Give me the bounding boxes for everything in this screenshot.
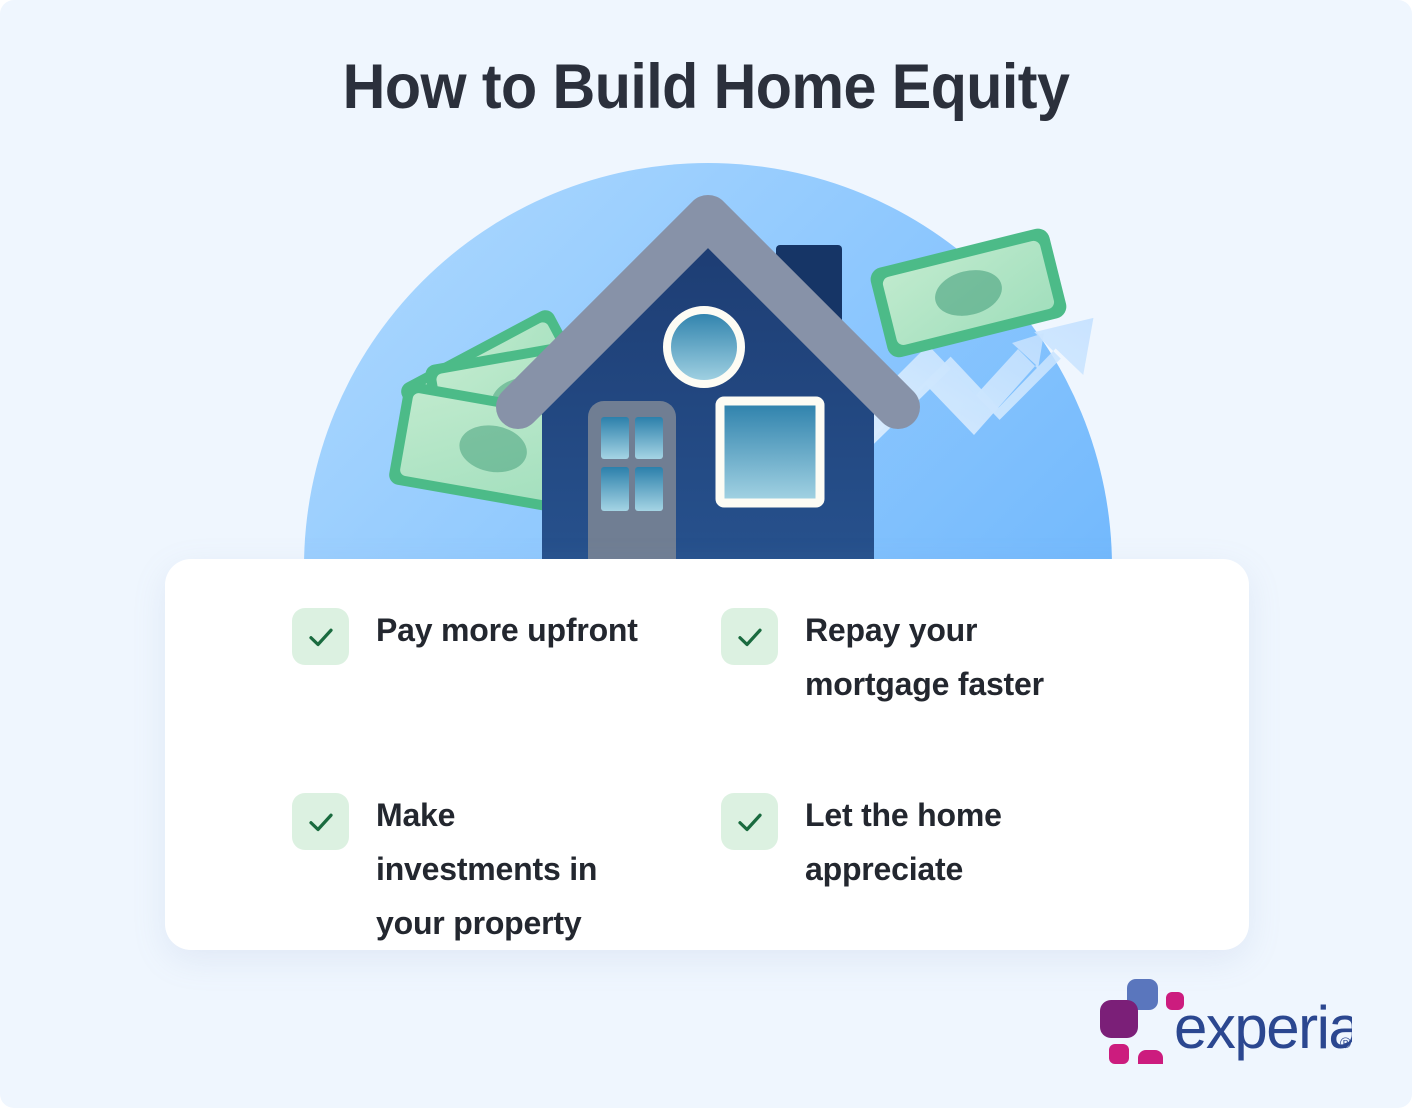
experian-logo: experian ® [1100,976,1352,1064]
check-icon-glyph [306,807,336,837]
hero-illustration [296,155,1120,575]
square-window [720,401,820,503]
check-icon [721,793,778,850]
checklist-item-repay-mortgage-faster[interactable]: Repay your mortgage faster [643,603,1249,767]
check-icon [292,793,349,850]
house-illustration-svg [296,155,1120,575]
checklist-item-label: Pay more upfront [376,603,638,657]
check-icon-glyph [735,622,765,652]
checklist-card: Pay more upfront Repay your mortgage fas… [165,559,1249,950]
checklist-item-let-home-appreciate[interactable]: Let the home appreciate [643,767,1249,950]
check-icon [721,608,778,665]
experian-wordmark: experian [1174,994,1352,1061]
checklist: Pay more upfront Repay your mortgage fas… [165,559,1249,950]
logo-square-purple [1100,1000,1138,1038]
checklist-item-label: Repay your mortgage faster [805,603,1105,711]
experian-logo-svg: experian ® [1100,976,1352,1064]
round-attic-window [667,310,741,384]
check-icon-glyph [306,622,336,652]
checklist-item-label: Make investments in your property [376,788,643,950]
checklist-item-pay-more-upfront[interactable]: Pay more upfront [165,603,643,767]
checklist-item-label: Let the home appreciate [805,788,1105,896]
check-icon-glyph [735,807,765,837]
check-icon [292,608,349,665]
checklist-item-make-investments[interactable]: Make investments in your property [165,767,643,950]
front-door [588,401,676,575]
infographic-root: How to Build Home Equity [0,0,1412,1108]
experian-trademark: ® [1340,1035,1351,1052]
logo-square-magenta-3 [1138,1050,1163,1064]
page-title: How to Build Home Equity [42,48,1369,126]
logo-square-magenta-2 [1109,1044,1129,1064]
